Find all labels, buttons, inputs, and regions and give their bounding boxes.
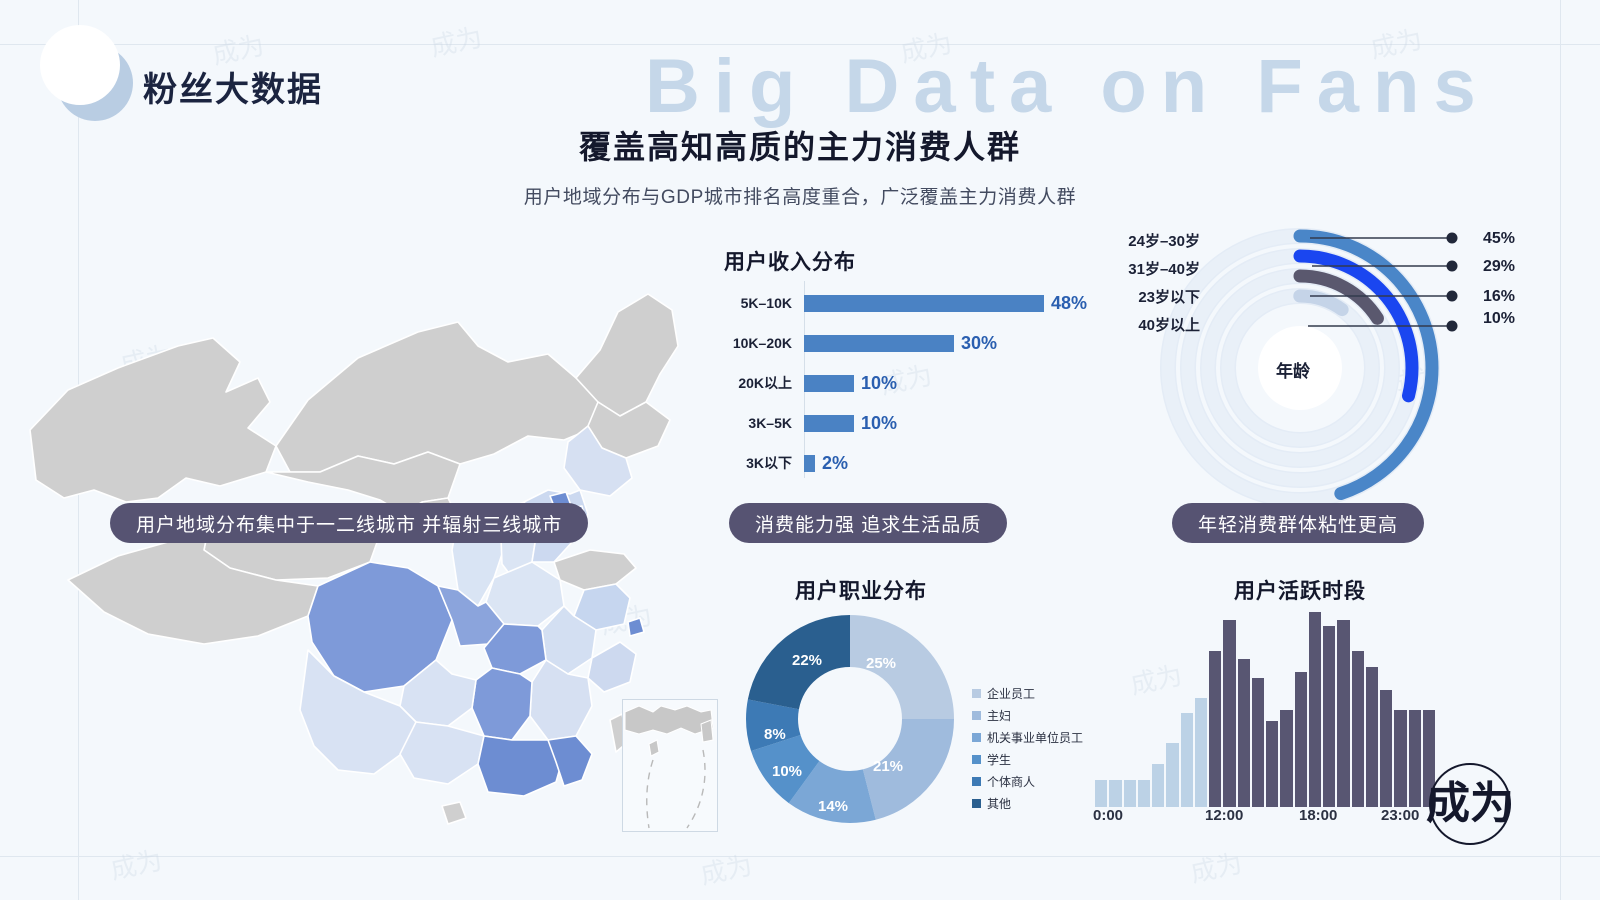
activity-bar bbox=[1223, 620, 1235, 807]
legend-item[interactable]: 机关事业单位员工 bbox=[972, 727, 1083, 748]
legend-item[interactable]: 主妇 bbox=[972, 705, 1083, 726]
income-bar-fill bbox=[804, 335, 954, 352]
age-label-4: 40岁以上 bbox=[1127, 314, 1200, 335]
age-label-1: 24岁–30岁 bbox=[1120, 230, 1200, 251]
occupation-chart-title: 用户职业分布 bbox=[795, 575, 927, 605]
income-bar-row: 20K以上 10% bbox=[710, 367, 897, 399]
age-value-2: 29% bbox=[1483, 258, 1515, 276]
watermark-headline: Big Data on Fans bbox=[645, 43, 1490, 130]
activity-bar bbox=[1138, 780, 1150, 807]
legend-item[interactable]: 其他 bbox=[972, 793, 1083, 814]
logo-text: 成为 bbox=[1426, 779, 1514, 828]
watermark-mark: 成为 bbox=[427, 17, 486, 64]
page-subtitle: 用户地域分布与GDP城市排名高度重合，广泛覆盖主力消费人群 bbox=[0, 182, 1600, 209]
legend-label: 学生 bbox=[987, 751, 1011, 768]
activity-bar bbox=[1209, 651, 1221, 807]
income-bar-value: 2% bbox=[822, 453, 848, 474]
income-bar-fill bbox=[804, 455, 815, 472]
income-bar-track: 10% bbox=[804, 407, 897, 439]
activity-tick-23: 23:00 bbox=[1381, 807, 1419, 824]
activity-bar bbox=[1323, 626, 1335, 807]
activity-tick-18: 18:00 bbox=[1299, 807, 1337, 824]
activity-bar bbox=[1409, 710, 1421, 808]
legend-swatch-icon bbox=[972, 799, 981, 808]
watermark-mark: 成为 bbox=[697, 845, 756, 892]
age-center-label: 年龄 bbox=[1276, 357, 1310, 382]
income-bar-row: 3K以下 2% bbox=[710, 447, 848, 479]
activity-bar bbox=[1266, 721, 1278, 807]
watermark-mark: 成为 bbox=[107, 840, 166, 887]
income-bar-track: 48% bbox=[804, 287, 1087, 319]
income-bar-label: 5K–10K bbox=[710, 295, 804, 311]
activity-bar bbox=[1352, 651, 1364, 807]
donut-value-5: 8% bbox=[764, 726, 786, 743]
watermark-mark: 成为 bbox=[1187, 843, 1246, 890]
activity-bar-chart bbox=[1095, 612, 1435, 807]
activity-bar bbox=[1337, 620, 1349, 807]
activity-bar bbox=[1181, 713, 1193, 807]
legend-label: 机关事业单位员工 bbox=[987, 729, 1083, 746]
guide-line-bottom bbox=[0, 856, 1600, 857]
age-value-4: 10% bbox=[1483, 310, 1515, 328]
age-label-3: 23岁以下 bbox=[1127, 286, 1200, 307]
activity-tick-12: 12:00 bbox=[1205, 807, 1243, 824]
income-bar-track: 2% bbox=[804, 447, 848, 479]
legend-swatch-icon bbox=[972, 733, 981, 742]
activity-axis: 0:00 12:00 18:00 23:00 bbox=[1085, 807, 1445, 829]
activity-bar bbox=[1166, 743, 1178, 807]
legend-label: 个体商人 bbox=[987, 773, 1035, 790]
legend-item[interactable]: 个体商人 bbox=[972, 771, 1083, 792]
activity-bar bbox=[1252, 678, 1264, 807]
age-value-1: 45% bbox=[1483, 230, 1515, 248]
income-bar-value: 48% bbox=[1051, 293, 1087, 314]
activity-bar bbox=[1309, 612, 1321, 807]
map-caption-pill: 用户地域分布集中于一二线城市 并辐射三线城市 bbox=[110, 503, 588, 543]
donut-value-6: 22% bbox=[792, 652, 822, 669]
activity-bar bbox=[1109, 780, 1121, 807]
legend-label: 主妇 bbox=[987, 707, 1011, 724]
income-bar-label: 3K–5K bbox=[710, 415, 804, 431]
income-bar-fill bbox=[804, 375, 854, 392]
legend-swatch-icon bbox=[972, 755, 981, 764]
brand-logo: 成为 bbox=[1424, 758, 1516, 850]
income-bar-chart: 5K–10K 48% 10K–20K 30% 20K以上 10% 3K–5K bbox=[710, 281, 1070, 481]
activity-bar bbox=[1152, 764, 1164, 807]
activity-bar bbox=[1366, 667, 1378, 807]
donut-value-3: 14% bbox=[818, 798, 848, 815]
legend-item[interactable]: 企业员工 bbox=[972, 683, 1083, 704]
activity-bar bbox=[1280, 710, 1292, 808]
income-bar-row: 10K–20K 30% bbox=[710, 327, 997, 359]
income-caption-pill: 消费能力强 追求生活品质 bbox=[729, 503, 1007, 543]
age-caption-pill: 年轻消费群体粘性更高 bbox=[1172, 503, 1424, 543]
income-bar-track: 30% bbox=[804, 327, 997, 359]
activity-bar bbox=[1238, 659, 1250, 807]
activity-bar bbox=[1095, 780, 1107, 807]
donut-value-2: 21% bbox=[873, 758, 903, 775]
income-bar-label: 10K–20K bbox=[710, 335, 804, 351]
income-bar-fill bbox=[804, 415, 854, 432]
income-bar-value: 10% bbox=[861, 413, 897, 434]
income-bar-row: 3K–5K 10% bbox=[710, 407, 897, 439]
income-bar-row: 5K–10K 48% bbox=[710, 287, 1087, 319]
income-bar-label: 20K以上 bbox=[710, 373, 804, 393]
activity-bar bbox=[1394, 710, 1406, 808]
activity-bars-container bbox=[1095, 612, 1435, 807]
donut-value-4: 10% bbox=[772, 763, 802, 780]
legend-swatch-icon bbox=[972, 689, 981, 698]
legend-label: 其他 bbox=[987, 795, 1011, 812]
activity-bar bbox=[1195, 698, 1207, 807]
income-bar-value: 10% bbox=[861, 373, 897, 394]
age-value-3: 16% bbox=[1483, 288, 1515, 306]
brand-title: 粉丝大数据 bbox=[143, 62, 323, 111]
occupation-legend: 企业员工 主妇 机关事业单位员工 学生 个体商人 其他 bbox=[972, 683, 1083, 815]
decorative-circle-white bbox=[40, 25, 120, 105]
age-radial-chart bbox=[1160, 218, 1460, 493]
legend-item[interactable]: 学生 bbox=[972, 749, 1083, 770]
activity-chart-title: 用户活跃时段 bbox=[1234, 575, 1366, 605]
donut-value-1: 25% bbox=[866, 655, 896, 672]
map-inset-south-sea bbox=[622, 699, 718, 832]
legend-label: 企业员工 bbox=[987, 685, 1035, 702]
activity-bar bbox=[1380, 690, 1392, 807]
activity-bar bbox=[1295, 672, 1307, 807]
activity-bar bbox=[1124, 780, 1136, 807]
age-label-2: 31岁–40岁 bbox=[1120, 258, 1200, 279]
occupation-donut-chart: 25% 21% 14% 10% 8% 22% bbox=[736, 608, 964, 830]
income-chart-title: 用户收入分布 bbox=[724, 246, 856, 276]
legend-swatch-icon bbox=[972, 711, 981, 720]
income-bar-fill bbox=[804, 295, 1044, 312]
slide-canvas: 成为 成为 成为 成为 成为 成为 成为 成为 成为 成为 成为 成为 Big … bbox=[0, 0, 1600, 900]
income-bar-value: 30% bbox=[961, 333, 997, 354]
legend-swatch-icon bbox=[972, 777, 981, 786]
income-bar-track: 10% bbox=[804, 367, 897, 399]
page-title: 覆盖高知高质的主力消费人群 bbox=[0, 122, 1600, 168]
income-bar-label: 3K以下 bbox=[710, 453, 804, 473]
activity-tick-0: 0:00 bbox=[1093, 807, 1123, 824]
